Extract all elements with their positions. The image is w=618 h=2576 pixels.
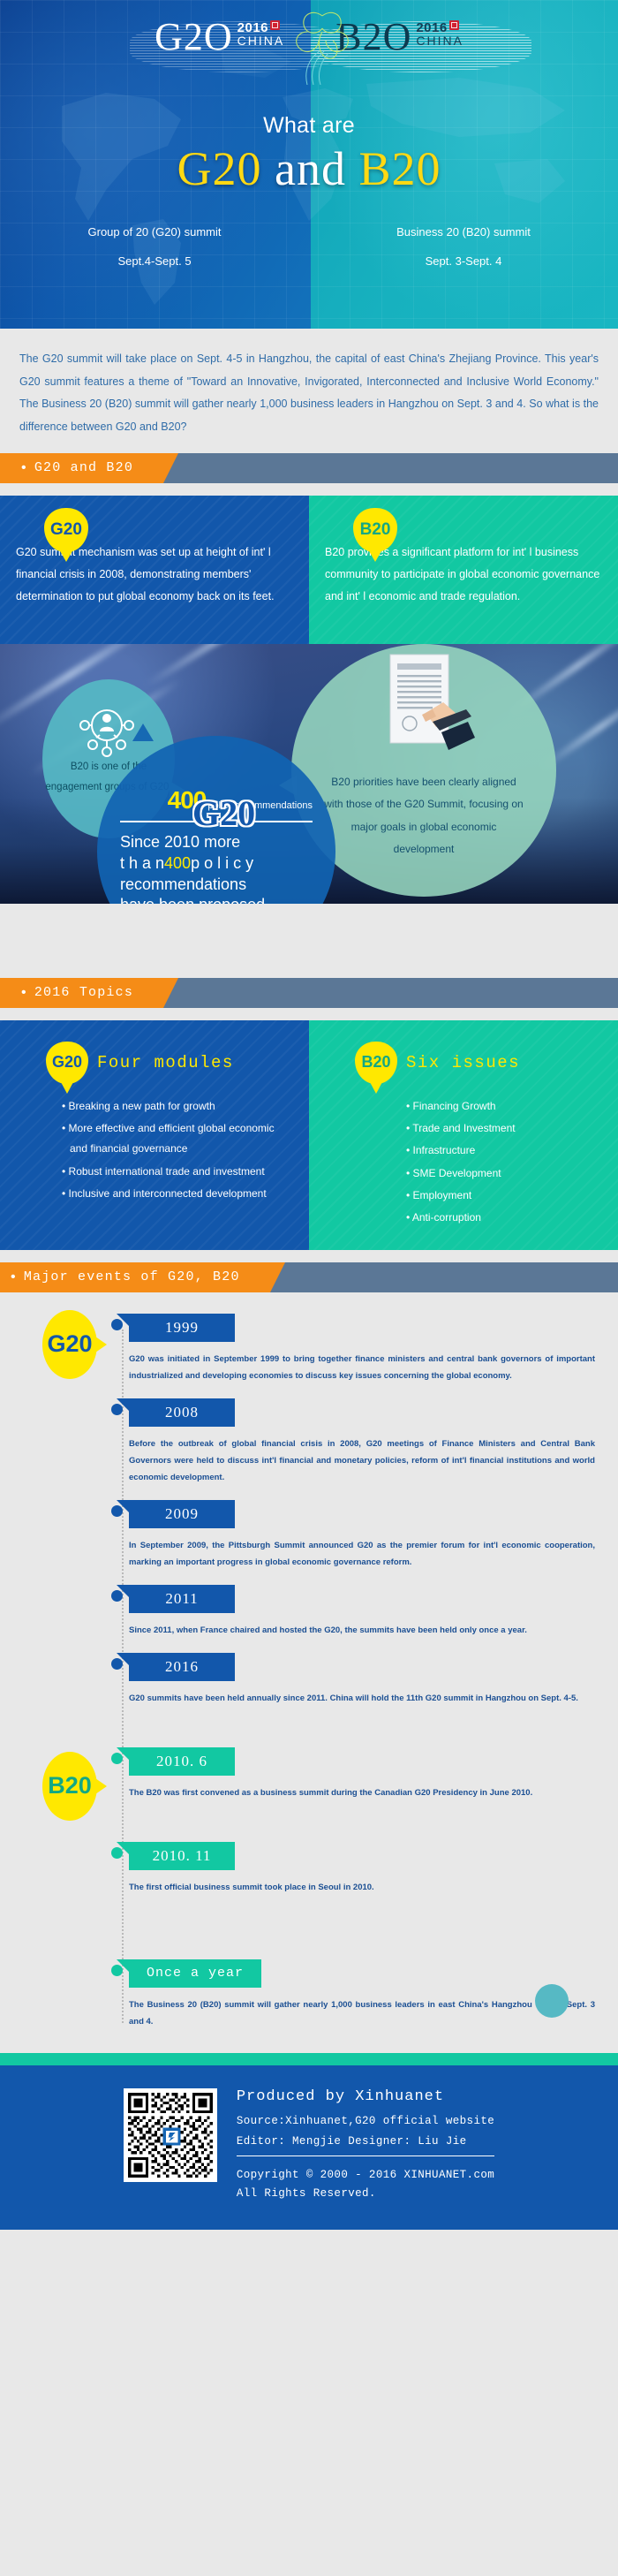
- stat-body: Since 2010 more t h a n400p o l i c y re…: [120, 832, 269, 904]
- footer-source: Source:Xinhuanet,G20 official website: [237, 2115, 494, 2127]
- list-item: Breaking a new path for growth: [62, 1096, 291, 1117]
- timeline-entry-text: The first official business summit took …: [129, 1879, 595, 1896]
- hero-col-g20: Group of 20 (G20) summit Sept.4-Sept. 5: [0, 225, 309, 268]
- timeline-entry: 2010. 11 The first official business sum…: [117, 1842, 595, 1896]
- timeline-year-chip: 2010. 11: [129, 1842, 235, 1870]
- timeline-dot-icon: [111, 1319, 123, 1330]
- hero-title-b20: B20: [358, 142, 441, 195]
- footer-divider: [237, 2156, 494, 2156]
- timeline-dot-icon: [111, 1847, 123, 1859]
- timeline-dot-icon: [111, 1590, 123, 1602]
- hero-subtitle: What are: [0, 113, 618, 139]
- timeline-year-chip: 2010. 6: [129, 1747, 235, 1776]
- timeline-entry: 2010. 6 The B20 was first convened as a …: [117, 1747, 595, 1801]
- list-item: Trade and Investment: [406, 1118, 600, 1139]
- section-tab-label: Major events of G20, B20: [24, 1269, 240, 1284]
- b20-description: B20 provides a significant platform for …: [325, 542, 602, 608]
- compare-card-b20: B20 B20 provides a significant platform …: [309, 496, 618, 644]
- stat-body-than: t h a n: [120, 854, 164, 872]
- section-bar-g20-and-b20: • G20 and B20: [0, 453, 618, 483]
- stat-body-line1: Since 2010 more: [120, 832, 269, 853]
- footer-copyright: Copyright © 2000 - 2016 XINHUANET.com: [237, 2169, 494, 2181]
- timeline-items: 1999 G20 was initiated in September 1999…: [117, 1314, 618, 2030]
- g20-pin-marker: G20: [46, 1042, 88, 1084]
- timeline-entry: Once a year The Business 20 (B20) summit…: [117, 1959, 595, 2030]
- hero-col-b20: Business 20 (B20) summit Sept. 3-Sept. 4: [309, 225, 618, 268]
- timeline-year-chip: Once a year: [129, 1959, 261, 1988]
- light-streak: [144, 644, 298, 688]
- intro-section: The G20 summit will take place on Sept. …: [0, 329, 618, 453]
- footer-top-rule: [0, 2053, 618, 2065]
- hero-title: G20 and B20: [0, 143, 618, 195]
- b20-logo: B2O 2016 CHINA: [335, 18, 463, 57]
- list-item: Infrastructure: [406, 1140, 600, 1161]
- timeline-year-chip: 1999: [129, 1314, 235, 1342]
- section-tab-label: 2016 Topics: [34, 985, 133, 1000]
- list-item: SME Development: [406, 1163, 600, 1184]
- list-item: Inclusive and interconnected development: [62, 1184, 291, 1204]
- g20-logo-year: 2016: [237, 21, 285, 34]
- list-item: Anti-corruption: [406, 1208, 600, 1228]
- timeline-gap: [117, 1910, 595, 1959]
- timeline-dot-icon: [111, 1753, 123, 1764]
- g20-summit-dates: Sept.4-Sept. 5: [0, 254, 309, 268]
- timeline-dot-icon: [111, 1658, 123, 1670]
- timeline-entry-text: The Business 20 (B20) summit will gather…: [129, 1996, 595, 2030]
- chinese-seal-icon: [449, 20, 459, 30]
- timeline-entry: 2011 Since 2011, when France chaired and…: [117, 1585, 595, 1639]
- stat-body-number: 400: [164, 854, 191, 872]
- timeline-entry-text: In September 2009, the Pittsburgh Summit…: [129, 1537, 595, 1571]
- intro-paragraph: The G20 summit will take place on Sept. …: [19, 348, 599, 439]
- timeline-gap: [117, 1721, 595, 1747]
- logo-row: G2O 2016 CHINA: [0, 18, 618, 57]
- conference-photo-band: B20 priorities have been clearly aligned…: [0, 644, 618, 904]
- qr-code[interactable]: [124, 2088, 217, 2182]
- list-item: Financing Growth: [406, 1096, 600, 1117]
- footer-credits: Produced by Xinhuanet Source:Xinhuanet,G…: [237, 2088, 494, 2200]
- stat-body-policy: p o l i c y: [191, 854, 253, 872]
- b20-flower-icon: [290, 5, 355, 85]
- qr-code-image: [128, 2093, 213, 2178]
- timeline-entry-text: G20 was initiated in September 1999 to b…: [129, 1351, 595, 1384]
- stat-body-line4: have been proposed.: [120, 895, 269, 903]
- compare-g20-b20: G20 G20 summit mechanism was set up at h…: [0, 496, 618, 644]
- timeline-year-chip: 2011: [129, 1585, 235, 1613]
- b20-topic-list: Financing Growth Trade and Investment In…: [325, 1096, 600, 1229]
- timeline-entry: 1999 G20 was initiated in September 1999…: [117, 1314, 595, 1384]
- section-tab: • Major events of G20, B20: [0, 1262, 270, 1292]
- timeline-dot-icon: [111, 1965, 123, 1976]
- hero-summit-columns: Group of 20 (G20) summit Sept.4-Sept. 5 …: [0, 225, 618, 268]
- timeline-entry-text: Before the outbreak of global financial …: [129, 1436, 595, 1486]
- g20-summit-name: Group of 20 (G20) summit: [0, 225, 309, 239]
- g20-topic-list: Breaking a new path for growth More effe…: [16, 1096, 291, 1205]
- timeline-year-chip: 2009: [129, 1500, 235, 1528]
- g20-topic-title: Four modules: [97, 1053, 234, 1072]
- timeline-entry: 2009 In September 2009, the Pittsburgh S…: [117, 1500, 595, 1571]
- timeline-gap: [117, 1815, 595, 1842]
- chinese-seal-icon: [270, 20, 280, 30]
- g20-logo: G2O 2016 CHINA: [154, 18, 284, 57]
- infographic-page: G2O 2016 CHINA: [0, 0, 618, 2576]
- timeline-badge-g20: G20: [42, 1310, 97, 1379]
- list-item: More effective and efficient global econ…: [62, 1118, 291, 1160]
- section-tab-label: G20 and B20: [34, 460, 133, 475]
- b20-topic-title: Six issues: [406, 1053, 520, 1072]
- timeline-year-chip: 2008: [129, 1398, 235, 1427]
- topic-card-b20: B20 Six issues Financing Growth Trade an…: [309, 1020, 618, 1250]
- topics-section: G20 Four modules Breaking a new path for…: [0, 1020, 618, 1250]
- g20-logo-country: CHINA: [237, 34, 285, 48]
- photo-center-g20-label: G20: [192, 792, 255, 834]
- bubble-b20-priorities-text: B20 priorities have been clearly aligned…: [321, 771, 526, 860]
- section-tab: • G20 and B20: [0, 453, 163, 483]
- b20-pin-marker: B20: [353, 508, 397, 552]
- section-tab: • 2016 Topics: [0, 978, 163, 1008]
- list-item: Employment: [406, 1186, 600, 1206]
- timeline-year-chip: 2016: [129, 1653, 235, 1681]
- events-timeline: G20 B20 1999 G20 was initiated in Septem…: [0, 1292, 618, 2053]
- hero-title-g20: G20: [177, 142, 262, 195]
- g20-pin-marker: G20: [44, 508, 88, 552]
- footer-rights: All Rights Reserved.: [237, 2187, 494, 2200]
- timeline-entry-text: G20 summits have been held annually sinc…: [129, 1690, 595, 1707]
- b20-summit-dates: Sept. 3-Sept. 4: [309, 254, 618, 268]
- b20-summit-name: Business 20 (B20) summit: [309, 225, 618, 239]
- b20-logo-year: 2016: [416, 21, 463, 34]
- signing-document-icon: [371, 651, 477, 766]
- section-bar-2016-topics: • 2016 Topics: [0, 978, 618, 1008]
- b20-pin-marker: B20: [355, 1042, 397, 1084]
- g20-logo-text: G2O: [154, 18, 233, 57]
- b20-logo-country: CHINA: [416, 34, 463, 48]
- topic-card-g20: G20 Four modules Breaking a new path for…: [0, 1020, 309, 1250]
- timeline-entry: 2008 Before the outbreak of global finan…: [117, 1398, 595, 1486]
- decorative-circle: [535, 1984, 569, 2018]
- stat-body-line3: recommendations: [120, 875, 269, 896]
- hero-banner: G2O 2016 CHINA: [0, 0, 618, 329]
- timeline-entry-text: The B20 was first convened as a business…: [129, 1784, 595, 1801]
- hero-title-and: and: [275, 142, 346, 195]
- section-bar-major-events: • Major events of G20, B20: [0, 1262, 618, 1292]
- compare-card-g20: G20 G20 summit mechanism was set up at h…: [0, 496, 309, 644]
- timeline-dot-icon: [111, 1404, 123, 1415]
- g20-description: G20 summit mechanism was set up at heigh…: [16, 542, 293, 608]
- timeline-entry-text: Since 2011, when France chaired and host…: [129, 1622, 595, 1639]
- timeline-dot-icon: [111, 1505, 123, 1517]
- timeline-badge-b20: B20: [42, 1752, 97, 1821]
- timeline-entry: 2016 G20 summits have been held annually…: [117, 1653, 595, 1707]
- footer-produced-by: Produced by Xinhuanet: [237, 2088, 494, 2105]
- footer-editor: Editor: Mengjie Designer: Liu Jie: [237, 2135, 494, 2148]
- list-item: Robust international trade and investmen…: [62, 1162, 291, 1182]
- footer: Produced by Xinhuanet Source:Xinhuanet,G…: [0, 2065, 618, 2230]
- network-people-icon: [76, 702, 138, 757]
